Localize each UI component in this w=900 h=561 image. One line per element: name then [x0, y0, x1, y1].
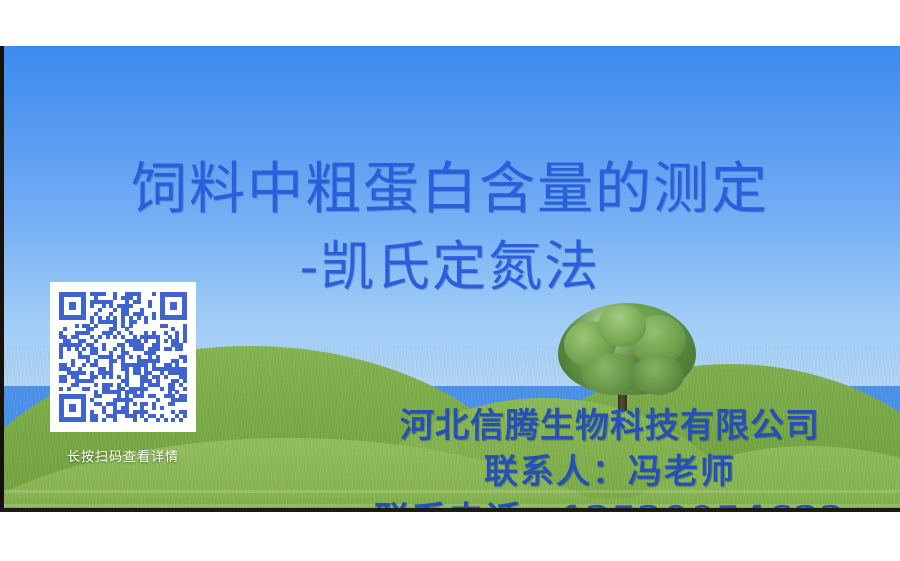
video-player-frame[interactable]: 长按扫码查看详情 饲料中粗蛋白含量的测定 -凯氏定氮法 河北信腾生物科技有限公司…: [0, 46, 900, 512]
slide-subtitle: -凯氏定氮法: [0, 236, 900, 298]
slide-footer: 河北信腾生物科技有限公司 联系人：冯老师 联系电话：13520054632: [310, 404, 900, 512]
page-bottom-margin: [0, 512, 900, 561]
qr-code-caption: 长按扫码查看详情: [50, 446, 196, 465]
page-top-margin: [0, 0, 900, 46]
video-frame-bottom-border: [0, 508, 900, 512]
company-name: 河北信腾生物科技有限公司: [310, 404, 900, 448]
video-frame-left-border: [0, 46, 4, 512]
screen-root: 长按扫码查看详情 饲料中粗蛋白含量的测定 -凯氏定氮法 河北信腾生物科技有限公司…: [0, 0, 900, 561]
contact-person: 联系人：冯老师: [310, 448, 900, 496]
tree-foliage-3: [598, 305, 646, 347]
slide-title: 饲料中粗蛋白含量的测定: [0, 160, 900, 220]
qr-code-matrix: [59, 292, 187, 422]
qr-code[interactable]: [50, 282, 196, 432]
tree-illustration: [552, 303, 702, 413]
tree-foliage-5: [632, 355, 684, 395]
